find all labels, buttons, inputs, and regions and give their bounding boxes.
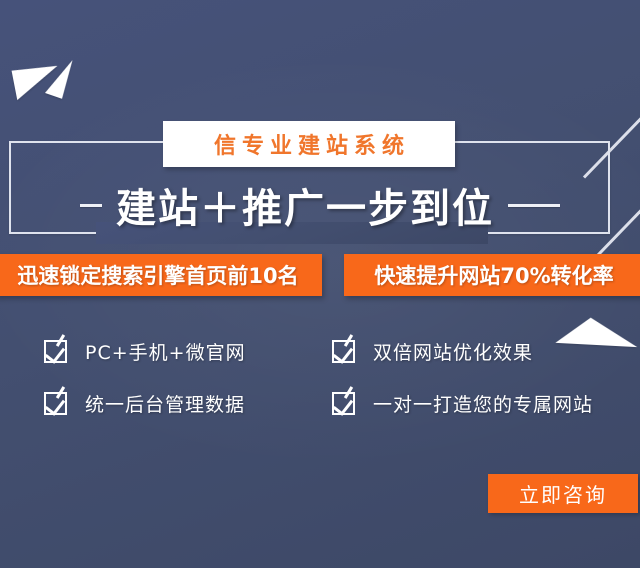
feature-item-label: 统一后台管理数据 [85,390,245,417]
feature-item: PC+手机+微官网 [0,325,318,377]
checkbox-checked-icon [332,340,355,363]
feature-item: 双倍网站优化效果 [318,325,640,377]
checkbox-checked-icon [44,340,67,363]
headline-row: 建站＋推广一步到位 [0,176,640,234]
highlight-ribbon-2-text: 快速提升网站70%转化率 [374,260,613,290]
consult-now-button-label: 立即咨询 [519,479,607,508]
feature-item-label: 双倍网站优化效果 [373,338,533,365]
subtitle-box: 信专业建站系统 [163,121,455,167]
feature-item-label: PC+手机+微官网 [85,338,246,365]
feature-item-label: 一对一打造您的专属网站 [373,390,593,417]
headline-rule-right [508,204,560,207]
feature-item: 一对一打造您的专属网站 [318,377,640,429]
headline-rule-left [80,204,102,207]
highlight-ribbon-2: 快速提升网站70%转化率 [344,254,640,296]
feature-item: 统一后台管理数据 [0,377,318,429]
highlight-ribbon-1: 迅速锁定搜索引擎首页前10名 [0,254,322,296]
promo-banner: 信专业建站系统 建站＋推广一步到位 迅速锁定搜索引擎首页前10名 快速提升网站7… [0,0,640,568]
highlight-ribbon-1-text: 迅速锁定搜索引擎首页前10名 [17,260,298,290]
checkbox-checked-icon [44,392,67,415]
checkbox-checked-icon [332,392,355,415]
page-title: 建站＋推广一步到位 [116,176,494,234]
subtitle-text: 信专业建站系统 [208,128,410,160]
feature-list: PC+手机+微官网 双倍网站优化效果 统一后台管理数据 一对一打造您的专属网站 [0,325,640,429]
consult-now-button[interactable]: 立即咨询 [488,474,638,513]
